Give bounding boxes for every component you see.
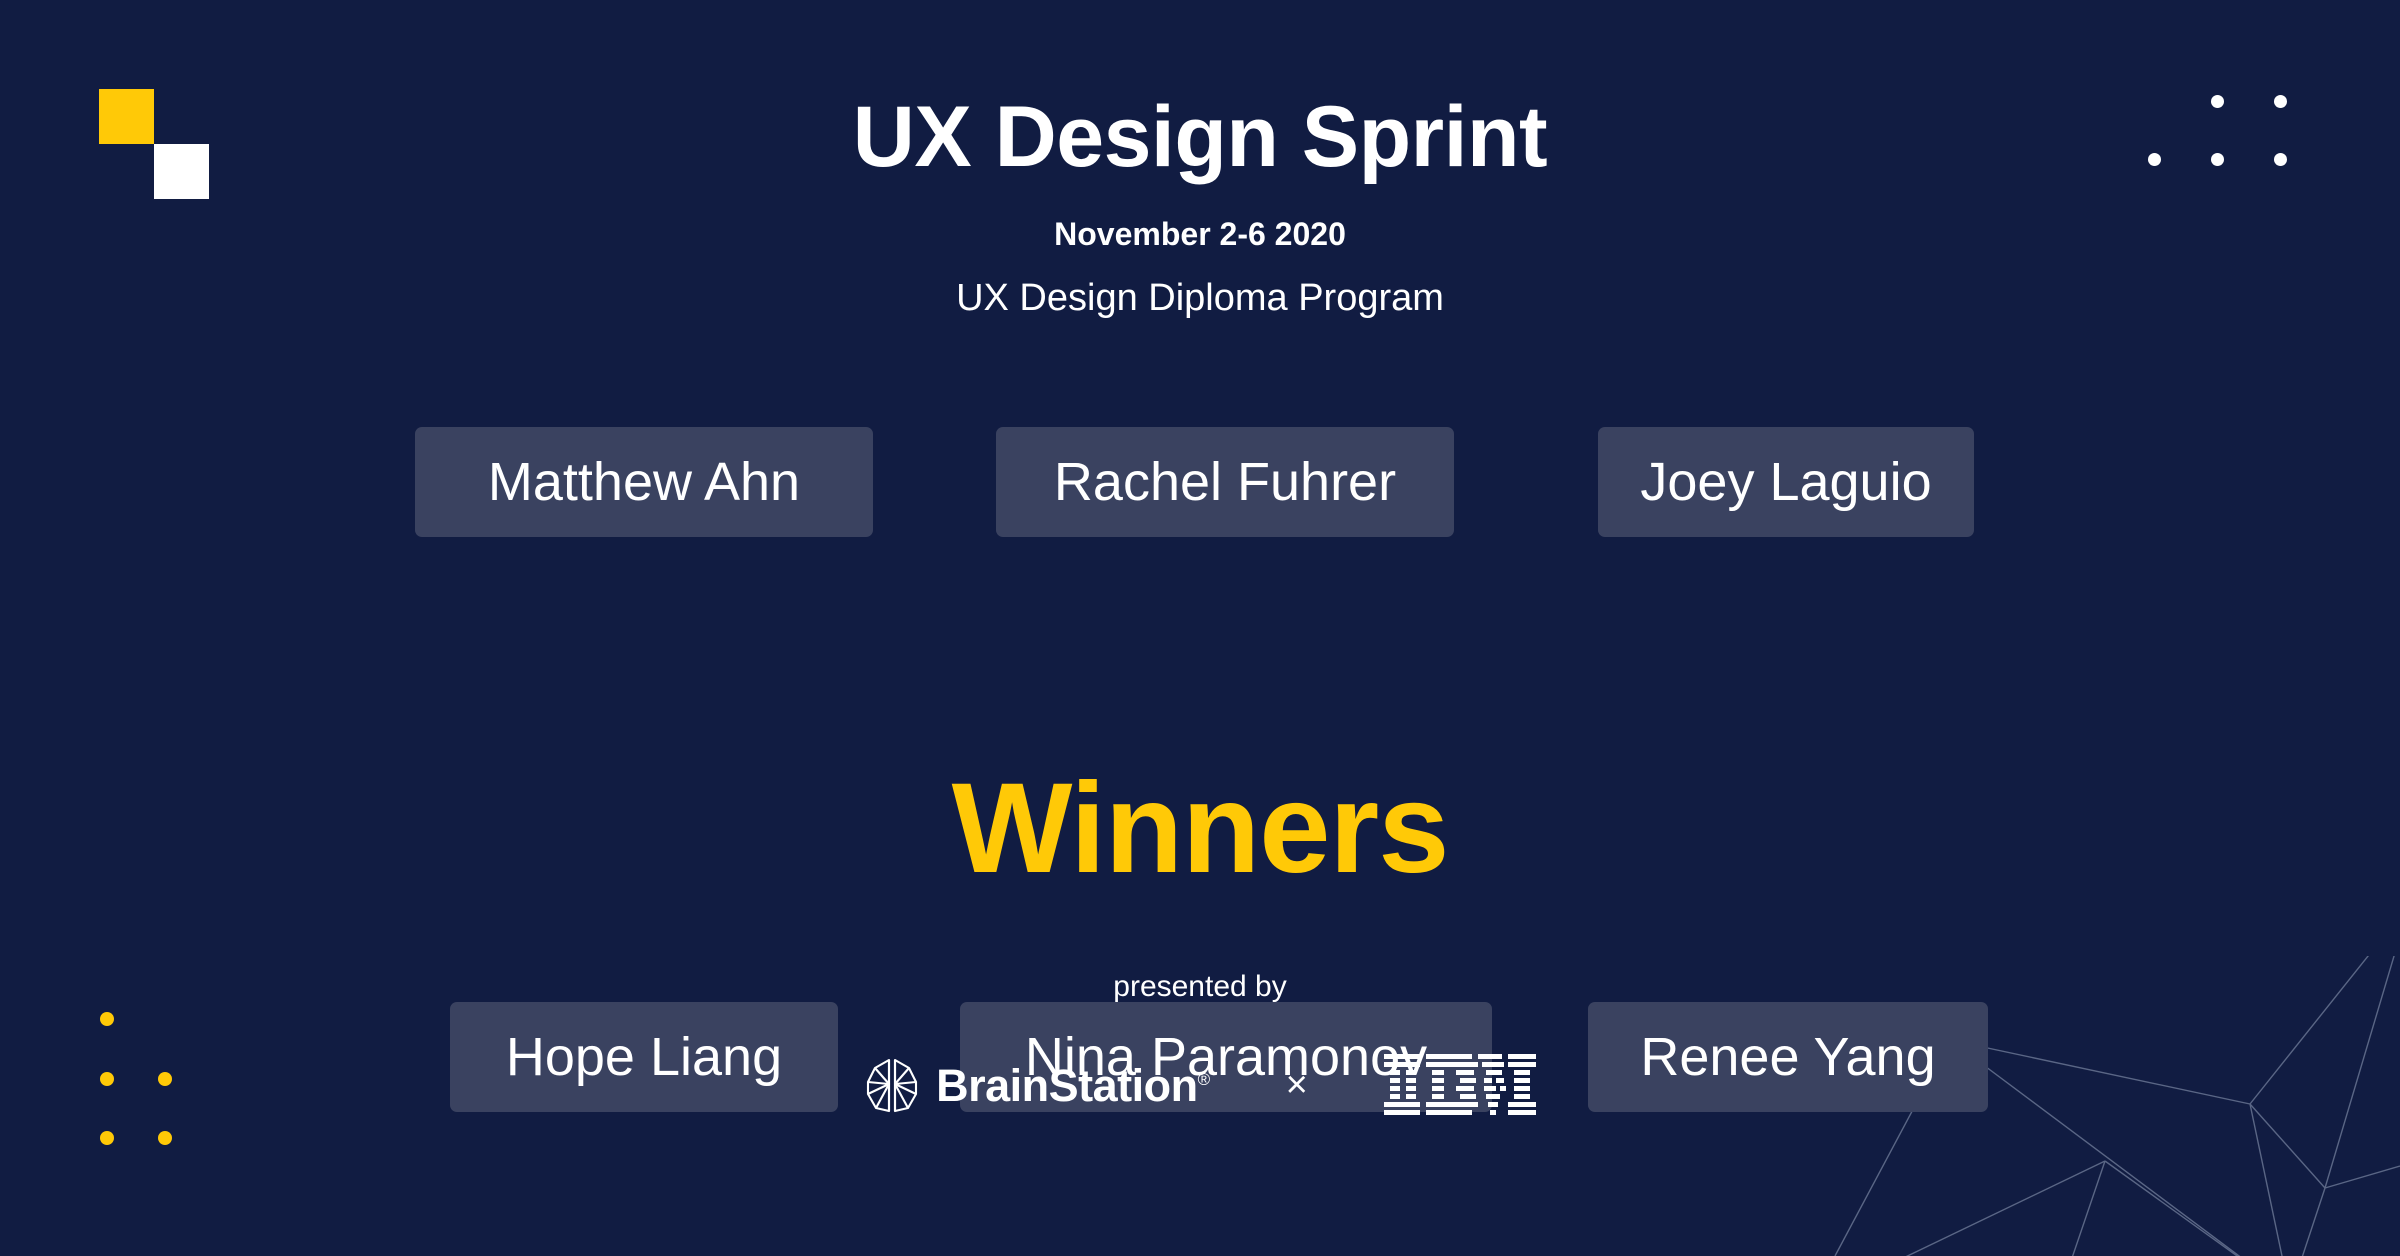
brain-icon <box>864 1056 920 1114</box>
brainstation-name-text: BrainStation <box>936 1060 1198 1111</box>
winner-name-label: Matthew Ahn <box>488 455 800 509</box>
winner-name-card[interactable]: Matthew Ahn <box>415 427 873 537</box>
slide-canvas: UX Design Sprint November 2-6 2020 UX De… <box>0 0 2400 1256</box>
brainstation-logo: BrainStation® <box>864 1056 1210 1114</box>
winner-name-label: Rachel Fuhrer <box>1054 455 1396 509</box>
page-title: UX Design Sprint <box>0 94 2400 180</box>
winner-name-label: Joey Laguio <box>1640 455 1931 509</box>
winners-headline: Winners <box>0 765 2400 893</box>
partner-logos-row: BrainStation® × <box>0 1054 2400 1116</box>
dot <box>100 1131 114 1145</box>
logo-separator-icon: × <box>1286 1066 1308 1104</box>
winners-name-card-grid: Matthew Ahn Rachel Fuhrer Joey Laguio Ho… <box>0 427 2400 687</box>
winner-name-card[interactable]: Rachel Fuhrer <box>996 427 1454 537</box>
ibm-logo-icon <box>1384 1054 1536 1116</box>
presented-by-label: presented by <box>0 972 2400 1002</box>
program-name-label: UX Design Diploma Program <box>0 279 2400 317</box>
registered-trademark-icon: ® <box>1198 1070 1210 1089</box>
dot <box>158 1131 172 1145</box>
event-dates-label: November 2-6 2020 <box>0 218 2400 250</box>
slide-header: UX Design Sprint November 2-6 2020 UX De… <box>0 0 2400 317</box>
brainstation-wordmark: BrainStation® <box>936 1063 1210 1108</box>
slide-footer: presented by <box>0 972 2400 1116</box>
winner-name-card[interactable]: Joey Laguio <box>1598 427 1974 537</box>
